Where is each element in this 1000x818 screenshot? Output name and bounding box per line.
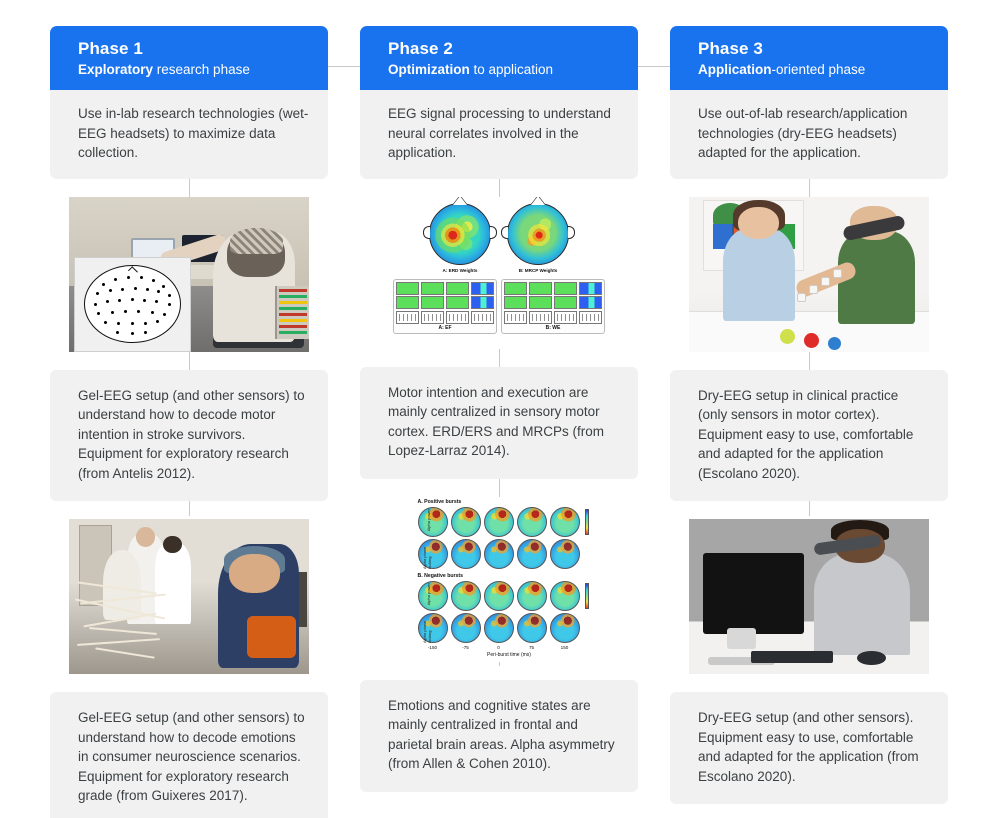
phase-header-card-2[interactable]: Phase 2 Optimization to application EEG … bbox=[360, 26, 638, 179]
lab-gel-eeg-consumer-photo bbox=[69, 519, 309, 674]
phase-subtitle-2: Optimization to application bbox=[388, 60, 624, 79]
topoplot-erd-label: A: ERD Weights bbox=[429, 268, 491, 273]
phase-header-card-3[interactable]: Phase 3 Application-oriented phase Use o… bbox=[670, 26, 948, 179]
phase-subtitle-bold-1: Exploratory bbox=[78, 62, 153, 77]
burst-row-label-b2: Alpha phase locking bbox=[422, 613, 432, 643]
figure-wrap-1a bbox=[50, 197, 328, 352]
peri-burst-topography-figure: A. Positive bursts Alpha power Alpha pha… bbox=[392, 497, 607, 662]
phase-header-bar-1: Phase 1 Exploratory research phase bbox=[50, 26, 328, 90]
phase-subtitle-1: Exploratory research phase bbox=[78, 60, 314, 79]
phase-header-bar-2: Phase 2 Optimization to application bbox=[360, 26, 638, 90]
phase-title-3: Phase 3 bbox=[698, 38, 934, 59]
burst-row-label-a1: Alpha power bbox=[426, 509, 431, 531]
burst-xtick-3: 75 bbox=[517, 645, 547, 650]
phase-text-card-2a: Motor intention and execution are mainly… bbox=[360, 367, 638, 479]
phase-subtitle-bold-2: Optimization bbox=[388, 62, 470, 77]
panel-ef-label: A: EF bbox=[396, 325, 494, 331]
phase-intro-2: EEG signal processing to understand neur… bbox=[360, 90, 638, 179]
phase-subtitle-3: Application-oriented phase bbox=[698, 60, 934, 79]
phase-title-1: Phase 1 bbox=[78, 38, 314, 59]
burst-xtick-2: 0 bbox=[484, 645, 514, 650]
figure-wrap-2b: A. Positive bursts Alpha power Alpha pha… bbox=[360, 497, 638, 662]
phase-text-card-3b: Dry-EEG setup (and other sensors). Equip… bbox=[670, 692, 948, 804]
phase-text-card-1a: Gel-EEG setup (and other sensors) to und… bbox=[50, 370, 328, 502]
infographic-page: Phase 1 Exploratory research phase Use i… bbox=[0, 0, 1000, 818]
burst-xtick-4: 150 bbox=[550, 645, 580, 650]
burst-section-a-label: A. Positive bursts bbox=[418, 499, 607, 505]
clinical-dry-eeg-rehab-photo bbox=[689, 197, 929, 352]
burst-row-label-a2: Alpha phase locking bbox=[422, 539, 432, 569]
eeg-montage-inset bbox=[74, 257, 192, 352]
phase-text-card-3a: Dry-EEG setup in clinical practice (only… bbox=[670, 370, 948, 502]
phase-subtitle-rest-2: to application bbox=[470, 62, 553, 77]
phase-column-2: Phase 2 Optimization to application EEG … bbox=[360, 26, 638, 818]
panel-we-label: B: WE bbox=[504, 325, 602, 331]
phase-intro-1: Use in-lab research technologies (wet-EE… bbox=[50, 90, 328, 179]
phase-title-2: Phase 2 bbox=[388, 38, 624, 59]
burst-xlabel: Peri-burst time (ms) bbox=[412, 652, 607, 658]
burst-xticks: -150 -75 0 75 150 bbox=[418, 645, 607, 650]
phase-subtitle-rest-3: -oriented phase bbox=[772, 62, 866, 77]
topoplot-erd bbox=[429, 203, 491, 265]
figure-wrap-3b bbox=[670, 519, 948, 674]
panel-ef: A: EF bbox=[393, 279, 497, 334]
figure-wrap-1b bbox=[50, 519, 328, 674]
phase-text-card-1b: Gel-EEG setup (and other sensors) to und… bbox=[50, 692, 328, 818]
figure-wrap-3a bbox=[670, 197, 948, 352]
erd-mrcp-topoplot-figure: A: ERD Weights B: MRCP Weights bbox=[393, 197, 605, 349]
burst-xtick-1: -75 bbox=[451, 645, 481, 650]
burst-xtick-0: -150 bbox=[418, 645, 448, 650]
topoplot-mrcp bbox=[507, 203, 569, 265]
phase-header-card-1[interactable]: Phase 1 Exploratory research phase Use i… bbox=[50, 26, 328, 179]
burst-row-label-b1: Alpha power bbox=[426, 583, 431, 605]
burst-section-b-label: B. Negative bursts bbox=[418, 573, 607, 579]
phase-header-bar-3: Phase 3 Application-oriented phase bbox=[670, 26, 948, 90]
phase-text-card-2b: Emotions and cognitive states are mainly… bbox=[360, 680, 638, 792]
phase-intro-3: Use out-of-lab research/application tech… bbox=[670, 90, 948, 179]
phase-subtitle-bold-3: Application bbox=[698, 62, 772, 77]
phase-column-1: Phase 1 Exploratory research phase Use i… bbox=[50, 26, 328, 818]
figure-wrap-2a: A: ERD Weights B: MRCP Weights bbox=[360, 197, 638, 349]
panel-we: B: WE bbox=[501, 279, 605, 334]
phase-column-3: Phase 3 Application-oriented phase Use o… bbox=[670, 26, 948, 818]
phase-subtitle-rest-1: research phase bbox=[153, 62, 250, 77]
topoplot-mrcp-label: B: MRCP Weights bbox=[507, 268, 569, 273]
phase-columns: Phase 1 Exploratory research phase Use i… bbox=[50, 26, 950, 818]
lab-wet-eeg-stroke-photo bbox=[69, 197, 309, 352]
office-dry-eeg-desk-photo bbox=[689, 519, 929, 674]
